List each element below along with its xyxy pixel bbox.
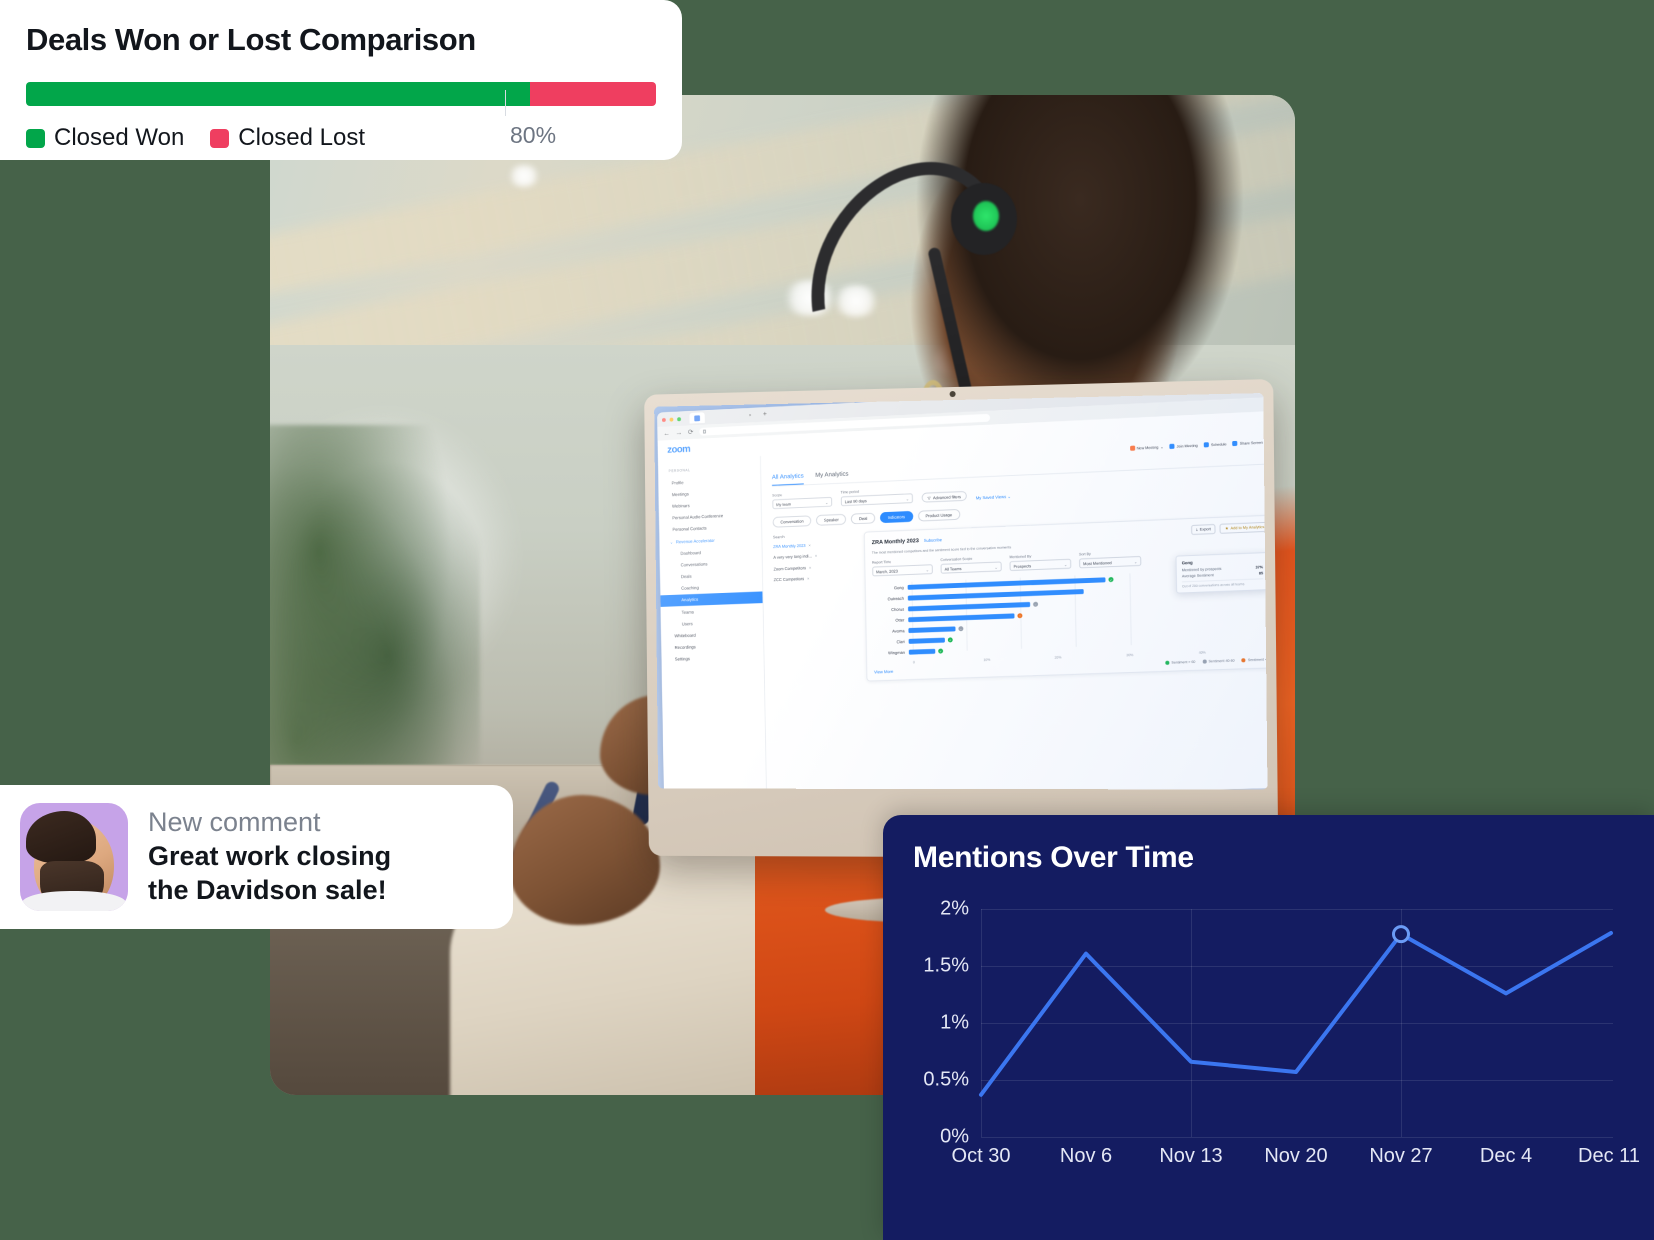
search-label: Search [773, 532, 856, 539]
close-icon[interactable]: × [808, 542, 810, 547]
back-icon[interactable]: ← [663, 430, 670, 437]
bar-label: Gong [873, 585, 908, 591]
legend-label-won: Closed Won [54, 124, 184, 152]
deals-tick-mark [505, 90, 506, 116]
x-tick: Nov 13 [1159, 1145, 1222, 1168]
monitor-screen: × + ← → ⟳ zoom [654, 393, 1267, 789]
deals-comparison-card: Deals Won or Lost Comparison Closed Won … [0, 0, 682, 160]
forward-icon[interactable]: → [675, 429, 682, 436]
deals-progress-bar [26, 82, 656, 106]
search-chip-zcc-competitors[interactable]: ZCC Competitors × [774, 574, 857, 582]
legend-swatch-won [26, 129, 45, 148]
join-meeting-button[interactable]: Join Meeting [1169, 443, 1197, 449]
tooltip-row-value: 85 [1259, 571, 1263, 575]
share-screen-button[interactable]: Share Screen [1233, 440, 1263, 446]
x-tick: Nov 27 [1369, 1145, 1432, 1168]
search-chip-zoom-competitors[interactable]: Zoom Competitors × [773, 563, 856, 571]
highlight-point-icon [1394, 927, 1409, 942]
tab-close-icon[interactable]: × [749, 412, 752, 418]
tab-my-analytics[interactable]: My Analytics [815, 471, 848, 484]
my-saved-views-label: My Saved Views [976, 494, 1007, 500]
deals-percent-label: 80% [510, 122, 556, 149]
sentiment-dot-icon: ! [1017, 613, 1022, 618]
headset-led-icon [973, 201, 999, 231]
chevron-down-icon[interactable]: ⌄ [1160, 445, 1163, 449]
deals-lost-segment [530, 82, 656, 106]
report-time-value: March, 2023 [876, 568, 898, 574]
schedule-button[interactable]: Schedule [1204, 441, 1227, 447]
bar-label: Clari [874, 639, 909, 645]
pill-indicators[interactable]: Indicators [880, 511, 913, 523]
star-icon: ★ [1225, 526, 1229, 531]
report-time-select[interactable]: March, 2023 ⌄ [872, 564, 933, 576]
conversation-scope-value: All Teams [945, 566, 962, 572]
scope-value: My team [776, 501, 791, 507]
x-tick: 40% [1199, 649, 1268, 655]
new-tab-icon[interactable]: + [763, 411, 767, 418]
advanced-filters-button[interactable]: ▽ Advanced filters [922, 491, 967, 503]
bar-label: Chorus [873, 607, 908, 613]
comment-kicker: New comment [148, 807, 391, 837]
join-meeting-label: Join Meeting [1177, 443, 1198, 448]
chevron-down-icon: ⌄ [926, 567, 929, 572]
tab-all-analytics[interactable]: All Analytics [772, 473, 804, 486]
chip-label: ZRA Monthly 2023 [773, 542, 806, 548]
view-more-link[interactable]: View More [874, 669, 893, 675]
legend-item: Sentiment 40-60 [1202, 658, 1234, 663]
legend-label-lost: Closed Lost [238, 124, 365, 152]
sentiment-dot-icon: – [1033, 602, 1038, 607]
chart-tooltip: Gong Mentioned by prospects 37% Average … [1175, 551, 1267, 594]
mentioned-by-select[interactable]: Prospects ⌄ [1010, 559, 1072, 571]
chip-label: ZCC Competitors [774, 576, 805, 582]
desktop-monitor: × + ← → ⟳ zoom [640, 387, 1270, 857]
calendar-icon [1204, 442, 1209, 447]
mentions-line-svg [981, 909, 1613, 1137]
conversation-scope-select[interactable]: All Teams ⌄ [941, 562, 1002, 574]
bar-label: Otter [873, 617, 908, 623]
webcam-icon [950, 391, 956, 397]
tab-favicon [694, 415, 700, 421]
reload-icon[interactable]: ⟳ [688, 429, 694, 436]
legend-label: Sentiment < 40 [1248, 657, 1268, 662]
sentiment-dot-icon: – [958, 626, 963, 631]
pill-deal[interactable]: Deal [851, 513, 875, 524]
chevron-down-icon: ⌄ [825, 499, 828, 504]
x-tick: 30% [1126, 651, 1198, 657]
y-tick: 0.5% [923, 1069, 969, 1092]
bar-label: Avoma [873, 628, 908, 634]
advanced-filters-label: Advanced filters [933, 494, 961, 500]
tooltip-row-value: 37% [1255, 565, 1263, 569]
pill-product-usage[interactable]: Product Usage [918, 509, 960, 521]
app-sidebar: PERSONAL Profile Meetings Webinars Perso… [658, 456, 767, 789]
sentiment-legend: Sentiment > 60 Sentiment 40-60 Sentiment… [1165, 657, 1267, 665]
schedule-label: Schedule [1211, 442, 1227, 447]
x-tick: Oct 30 [952, 1145, 1011, 1168]
mentioned-by-value: Prospects [1014, 563, 1032, 569]
time-period-value: Last 90 days [845, 498, 867, 504]
sidebar-item-settings[interactable]: Settings [661, 651, 763, 666]
x-tick: 20% [1055, 653, 1127, 659]
mentions-plot: 0% 0.5% 1% 1.5% 2% O [913, 909, 1613, 1177]
chart-title: Mentions Over Time [913, 841, 1654, 875]
chevron-down-icon: ⌄ [1007, 494, 1011, 499]
new-meeting-button[interactable]: New Meeting ⌄ [1130, 444, 1164, 451]
search-chip-zra-monthly[interactable]: ZRA Monthly 2023 × [773, 540, 856, 548]
pill-speaker[interactable]: Speaker [816, 514, 846, 526]
x-tick: Dec 4 [1480, 1145, 1532, 1168]
pill-conversation[interactable]: Conversation [773, 515, 812, 527]
report-card: ZRA Monthly 2023 Subscribe ⤓ Export [864, 514, 1268, 682]
close-icon[interactable]: × [809, 565, 811, 570]
y-tick: 2% [940, 898, 969, 921]
y-tick: 1.5% [923, 955, 969, 978]
legend-item: Sentiment < 40 [1242, 657, 1268, 662]
add-label: Add to My Analytics [1231, 525, 1265, 530]
x-tick: 0 [913, 658, 984, 664]
scope-select[interactable]: My team ⌄ [772, 497, 832, 509]
legend-item: Sentiment > 60 [1165, 660, 1195, 665]
legend-item-closed-lost: Closed Lost [210, 124, 365, 152]
search-chip-long-indicator[interactable]: A very very long indi... × [773, 552, 856, 560]
chevron-down-icon: ⌄ [1134, 559, 1137, 564]
subscribe-link[interactable]: Subscribe [924, 537, 942, 543]
x-axis: Oct 30 Nov 6 Nov 13 Nov 20 Nov 27 Dec 4 … [981, 1145, 1613, 1171]
mentions-line [981, 933, 1611, 1095]
chevron-down-icon: ⌄ [906, 496, 909, 501]
legend-swatch [1202, 659, 1206, 663]
export-button[interactable]: ⤓ Export [1191, 523, 1216, 534]
page-root: × + ← → ⟳ zoom [0, 0, 1654, 1240]
browser-window[interactable]: × + ← → ⟳ zoom [657, 393, 1267, 789]
search-panel: Search ZRA Monthly 2023 × A very very lo… [773, 532, 859, 685]
comment-body-line1: Great work closing [148, 840, 391, 872]
chip-label: Zoom Competitors [773, 565, 806, 571]
sort-by-value: Most Mentioned [1083, 560, 1112, 566]
close-icon[interactable]: × [815, 553, 817, 558]
tooltip-footer: Out of 200 conversations across all team… [1182, 578, 1263, 589]
filter-icon: ▽ [928, 495, 931, 500]
chevron-down-icon: ⌄ [1064, 562, 1067, 567]
bar-label: Wingman [874, 650, 909, 656]
bar-label: Outreach [873, 596, 908, 602]
add-to-my-analytics-button[interactable]: ★ Add to My Analytics [1220, 521, 1268, 533]
report-title: ZRA Monthly 2023 [872, 538, 919, 546]
sentiment-dot-icon: ✓ [938, 649, 943, 654]
plus-icon [1169, 444, 1174, 449]
x-tick: Nov 6 [1060, 1145, 1112, 1168]
lock-icon [703, 430, 706, 434]
chevron-down-icon: ⌄ [994, 564, 997, 569]
sentiment-dot-icon: ✓ [948, 638, 953, 643]
comment-body-line2: the Davidson sale! [148, 874, 391, 906]
x-tick: Nov 20 [1264, 1145, 1327, 1168]
avatar [20, 803, 128, 911]
tooltip-title: Gong [1182, 557, 1263, 565]
legend-swatch [1242, 658, 1246, 662]
chip-label: A very very long indi... [773, 553, 812, 559]
new-comment-card[interactable]: New comment Great work closing the David… [0, 785, 513, 929]
close-window-icon[interactable] [662, 417, 666, 421]
export-icon: ⤓ [1196, 527, 1198, 531]
legend-item-closed-won: Closed Won [26, 124, 184, 152]
my-saved-views-link[interactable]: My Saved Views ⌄ [976, 494, 1011, 500]
y-axis: 0% 0.5% 1% 1.5% 2% [913, 909, 977, 1137]
close-icon[interactable]: × [807, 576, 809, 581]
y-tick: 1% [940, 1012, 969, 1035]
new-meeting-label: New Meeting [1137, 445, 1159, 450]
video-icon [1130, 446, 1135, 451]
zoom-logo[interactable]: zoom [667, 444, 690, 456]
export-label: Export [1200, 527, 1211, 531]
minimize-window-icon[interactable] [670, 417, 674, 421]
deals-won-segment [26, 82, 530, 106]
legend-label: Sentiment 40-60 [1208, 658, 1234, 663]
x-tick: Dec 11 [1578, 1145, 1640, 1168]
legend-label: Sentiment > 60 [1171, 660, 1195, 665]
legend-swatch-lost [210, 129, 229, 148]
page-title: Deals Won or Lost Comparison [26, 22, 656, 58]
x-tick: 10% [983, 656, 1054, 662]
time-period-select[interactable]: Last 90 days ⌄ [841, 493, 913, 506]
tooltip-row-label: Mentioned by prospects [1182, 566, 1222, 572]
share-icon [1233, 441, 1238, 446]
deals-legend-row: Closed Won Closed Lost 80% [26, 124, 656, 152]
sentiment-dot-icon: ✓ [1108, 577, 1113, 582]
sort-by-select[interactable]: Most Mentioned ⌄ [1079, 556, 1141, 568]
plot-area [981, 909, 1613, 1137]
app-main: New Meeting ⌄ Join Meeting Schedule [761, 432, 1268, 790]
mentions-over-time-card: Mentions Over Time 0% 0.5% 1% 1.5% 2% [883, 815, 1654, 1240]
legend-swatch [1165, 660, 1169, 664]
share-screen-label: Share Screen [1240, 440, 1263, 445]
tooltip-row-label: Average Sentiment [1182, 573, 1214, 578]
maximize-window-icon[interactable] [677, 417, 681, 421]
browser-tab[interactable] [689, 412, 704, 423]
